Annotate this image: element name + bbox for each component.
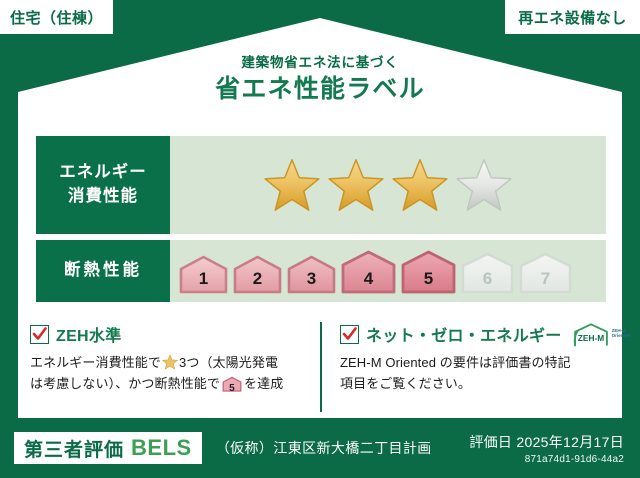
insulation-badge-1: 1 xyxy=(178,254,229,294)
net-zero-body-line1: ZEH-M Oriented の要件は評価書の特記 xyxy=(340,355,571,370)
insulation-badge-3-number: 3 xyxy=(286,269,337,289)
star-filled-icon xyxy=(392,158,448,212)
net-zero-checkbox xyxy=(340,325,359,344)
energy-performance-key: エネルギー 消費性能 xyxy=(36,136,170,234)
zeh-body-part3: は考慮しない）、かつ断熱性能で xyxy=(30,376,220,391)
insulation-level-badges: 1 2 3 xyxy=(178,249,573,294)
zeh-body-part1: エネルギー消費性能で xyxy=(30,355,161,370)
zeh-body-part2: 3つ（太陽光発電 xyxy=(179,355,278,370)
bels-badge: 第三者評価 BELS xyxy=(14,432,202,464)
bels-japanese-text: 第三者評価 xyxy=(24,435,124,462)
zeh-standard-section: ZEH水準 エネルギー消費性能で3つ（太陽光発電 は考慮しない）、かつ断熱性能で… xyxy=(30,322,320,412)
zeh-standard-checkbox xyxy=(30,325,49,344)
label-title: 建築物省エネ法に基づく 省エネ性能ラベル xyxy=(0,55,640,107)
inline-insulation-badge: 5 xyxy=(222,376,242,398)
insulation-badge-5-number: 5 xyxy=(400,269,457,289)
insulation-performance-key: 断熱性能 xyxy=(36,240,170,302)
title-subtitle: 建築物省エネ法に基づく xyxy=(0,55,640,71)
insulation-badge-2: 2 xyxy=(232,254,283,294)
evaluation-code: 871a74d1-91d6-44a2 xyxy=(469,454,624,465)
check-icon xyxy=(32,326,47,342)
insulation-badge-7: 7 xyxy=(518,251,573,294)
insulation-key-text: 断熱性能 xyxy=(64,259,142,283)
net-zero-body-line2: 項目をご覧ください。 xyxy=(340,376,471,391)
star-rating xyxy=(264,158,512,212)
zeh-standard-body: エネルギー消費性能で3つ（太陽光発電 は考慮しない）、かつ断熱性能で5を達成 xyxy=(30,352,306,398)
bels-logo-text: BELS xyxy=(131,435,192,461)
building-type-text: 住宅（住棟） xyxy=(10,7,103,28)
insulation-badge-6: 6 xyxy=(460,251,515,294)
insulation-badge-5: 5 xyxy=(400,249,457,294)
zeh-m-logo-sub2: Oriented xyxy=(612,334,631,339)
renewable-energy-text: 再エネ設備なし xyxy=(518,7,627,28)
energy-performance-value xyxy=(170,136,606,234)
insulation-badge-3: 3 xyxy=(286,254,337,294)
insulation-badge-6-number: 6 xyxy=(460,269,515,289)
inline-star-icon xyxy=(162,354,178,370)
insulation-performance-row: 断熱性能 1 2 xyxy=(36,240,606,302)
net-zero-header: ネット・ゼロ・エネルギー ZEH-M ZEH-M Oriented xyxy=(340,322,596,346)
star-empty-icon xyxy=(456,158,512,212)
net-zero-body: ZEH-M Oriented の要件は評価書の特記 項目をご覧ください。 xyxy=(340,352,596,394)
energy-performance-row: エネルギー 消費性能 xyxy=(36,136,606,234)
insulation-badge-4-number: 4 xyxy=(340,269,397,289)
energy-key-line1: エネルギー xyxy=(59,161,147,185)
net-zero-energy-section: ネット・ゼロ・エネルギー ZEH-M ZEH-M Oriented ZEH-M … xyxy=(320,322,610,412)
insulation-performance-value: 1 2 3 xyxy=(170,240,606,302)
certification-sections: ZEH水準 エネルギー消費性能で3つ（太陽光発電 は考慮しない）、かつ断熱性能で… xyxy=(30,322,610,412)
insulation-badge-1-number: 1 xyxy=(178,269,229,289)
star-filled-icon xyxy=(264,158,320,212)
project-name: （仮称）江東区新大橋二丁目計画 xyxy=(216,438,432,458)
title-main: 省エネ性能ラベル xyxy=(0,73,640,107)
insulation-badge-4: 4 xyxy=(340,249,397,294)
label-footer: 第三者評価 BELS （仮称）江東区新大橋二丁目計画 評価日 2025年12月1… xyxy=(0,418,640,478)
energy-performance-label: 住宅（住棟） 再エネ設備なし 建築物省エネ法に基づく 省エネ性能ラベル エネルギ… xyxy=(0,0,640,478)
zeh-standard-title: ZEH水準 xyxy=(56,322,122,346)
zeh-m-house-icon: ZEH-M xyxy=(572,322,610,347)
net-zero-title: ネット・ゼロ・エネルギー xyxy=(366,322,562,346)
building-type-tag: 住宅（住棟） xyxy=(0,0,113,34)
insulation-badge-7-number: 7 xyxy=(518,269,573,289)
renewable-energy-tag: 再エネ設備なし xyxy=(505,0,640,34)
check-icon xyxy=(342,326,357,342)
star-filled-icon xyxy=(328,158,384,212)
svg-text:ZEH-M: ZEH-M xyxy=(577,332,603,342)
insulation-badge-2-number: 2 xyxy=(232,269,283,289)
zeh-standard-header: ZEH水準 xyxy=(30,322,306,346)
inline-badge-number: 5 xyxy=(222,381,242,397)
evaluation-info: 評価日 2025年12月17日 871a74d1-91d6-44a2 xyxy=(469,432,624,465)
evaluation-date: 評価日 2025年12月17日 xyxy=(469,432,624,452)
zeh-m-logo: ZEH-M ZEH-M Oriented xyxy=(572,322,631,347)
zeh-body-part4: を達成 xyxy=(244,376,283,391)
energy-key-line2: 消費性能 xyxy=(68,185,138,209)
